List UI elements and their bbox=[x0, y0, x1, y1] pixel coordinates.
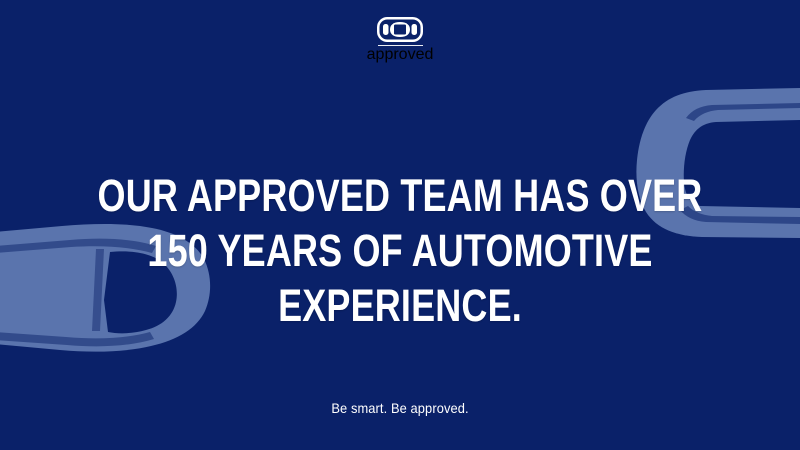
headline-line-2: 150 YEARS OF AUTOMOTIVE bbox=[80, 223, 720, 278]
headline-line-3: EXPERIENCE. bbox=[80, 278, 720, 333]
logo-wordmark: approved bbox=[367, 46, 434, 64]
tagline: Be smart. Be approved. bbox=[32, 399, 768, 417]
promo-slide: approved OUR APPROVED TEAM HAS OVER 150 … bbox=[0, 0, 800, 450]
headline-line-1: OUR APPROVED TEAM HAS OVER bbox=[80, 168, 720, 223]
brand-logo-lockup: approved bbox=[0, 17, 800, 64]
approved-car-badge-icon bbox=[377, 17, 423, 42]
headline: OUR APPROVED TEAM HAS OVER 150 YEARS OF … bbox=[0, 168, 800, 333]
logo-divider-rule bbox=[378, 45, 423, 46]
